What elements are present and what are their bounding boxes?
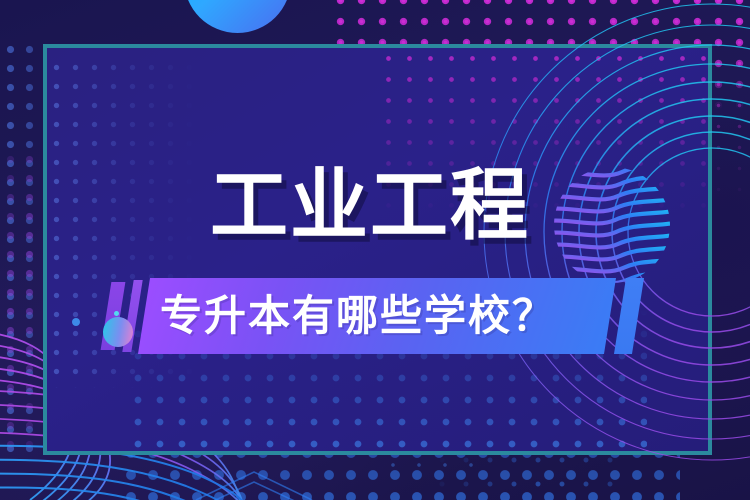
page-title: 工业工程 <box>210 167 530 245</box>
poster-canvas: 工业工程 专升本有哪些学校？ <box>0 0 750 500</box>
small-gradient-circle-icon <box>103 317 133 347</box>
small-cyan-dot <box>114 311 119 316</box>
subtitle-text: 专升本有哪些学校？ <box>160 285 580 347</box>
banner-accent-bar-right <box>614 278 644 354</box>
small-blue-dot <box>72 318 80 326</box>
